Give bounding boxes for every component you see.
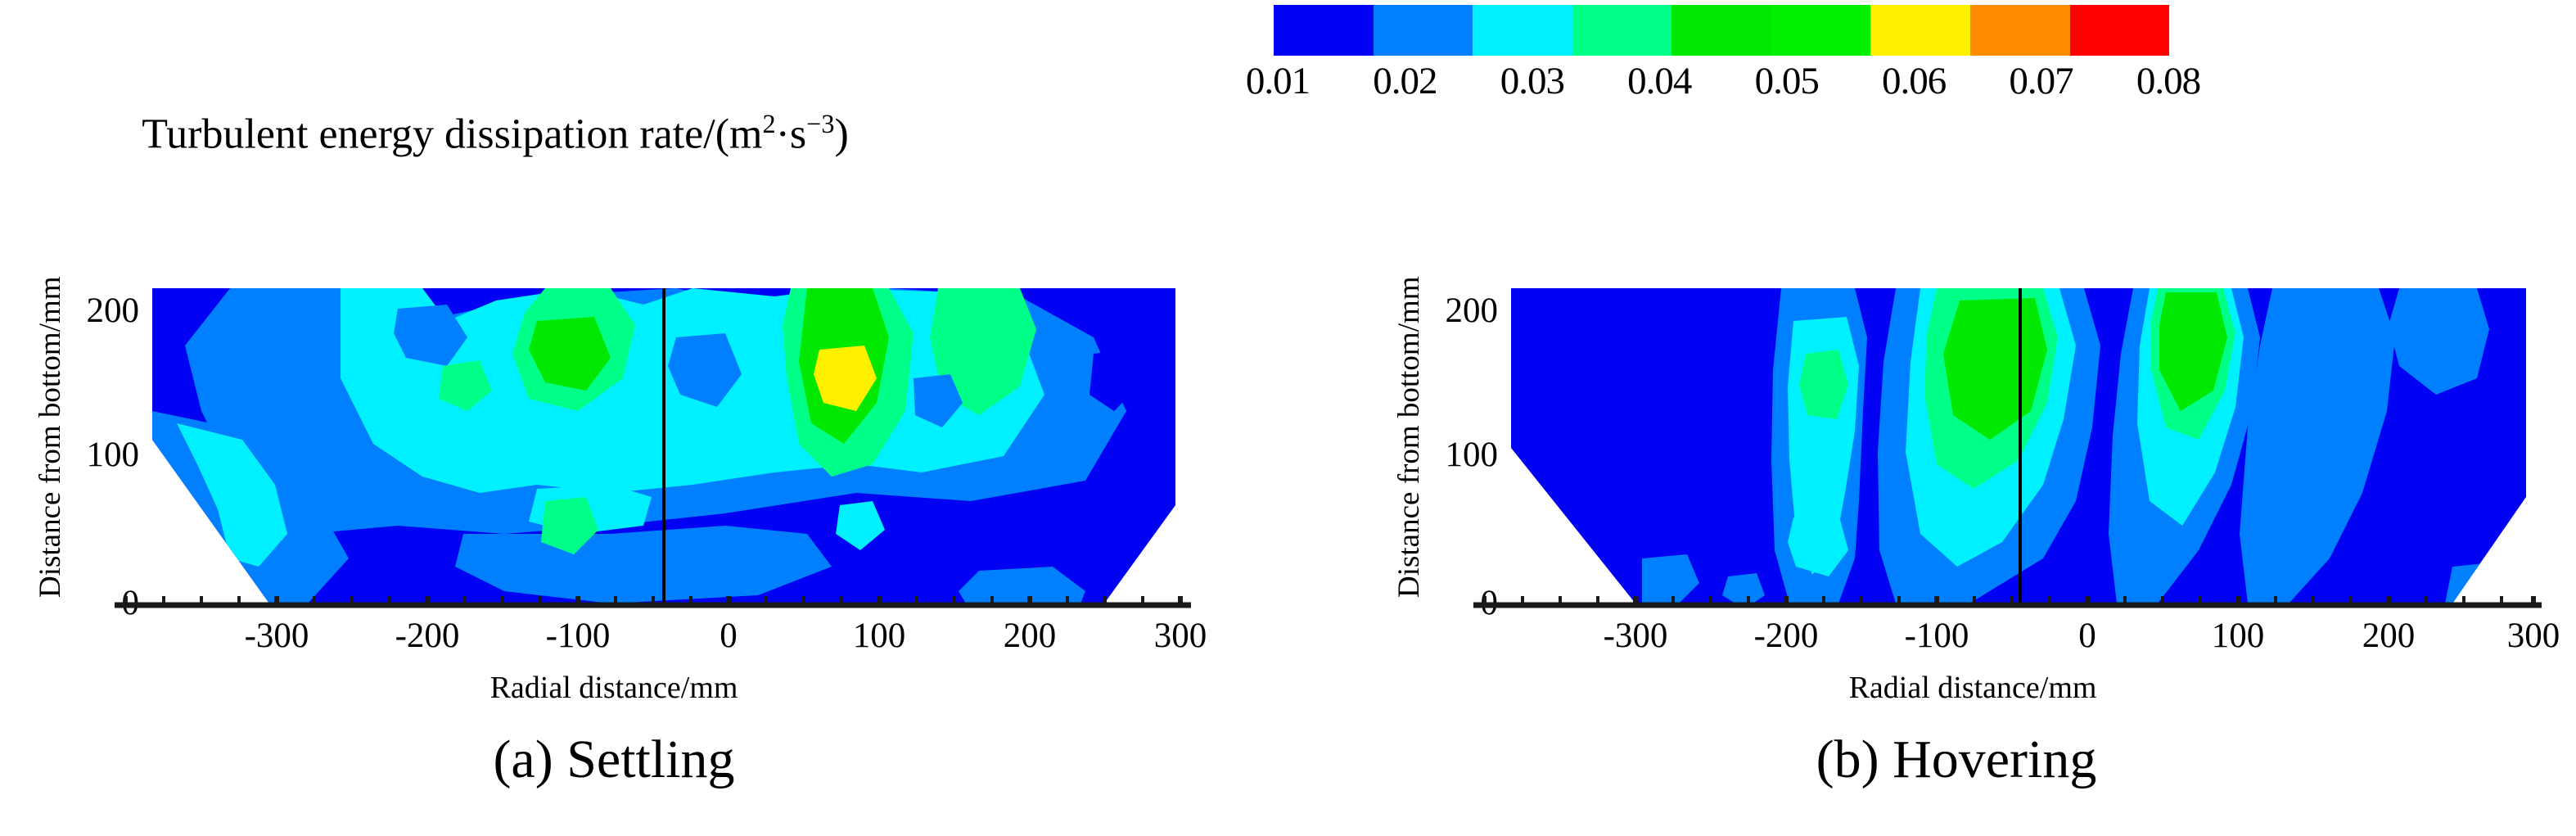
y-tick-100-b: 100 <box>1408 435 1498 475</box>
panel-caption-a: (a) Settling <box>409 729 819 791</box>
contour-plot-hovering <box>1511 288 2526 612</box>
x-axis-label-b: Radial distance/mm <box>1768 670 2177 706</box>
x-tick-200-b: 200 <box>2331 616 2446 656</box>
panel-settling: Distance from bottom/mm 200 100 0 <box>0 0 1228 836</box>
contour-plot-settling <box>152 288 1175 612</box>
x-tick-300-b: 300 <box>2476 616 2576 656</box>
x-tick-0-b: 0 <box>2030 616 2145 656</box>
x-tick-0-a: 0 <box>671 616 786 656</box>
x-tick-100-b: 100 <box>2181 616 2295 656</box>
x-tick-200-a: 200 <box>972 616 1087 656</box>
x-axis-label-a: Radial distance/mm <box>409 670 819 706</box>
x-tick--200-a: -200 <box>370 616 485 656</box>
colorbar-tick-0.01: 0.01 <box>1228 59 1328 103</box>
x-tick--300-b: -300 <box>1578 616 1693 656</box>
panel-hovering: Distance from bottom/mm 200 100 0 <box>1359 0 2570 836</box>
x-tick--100-a: -100 <box>521 616 635 656</box>
x-tick--200-b: -200 <box>1729 616 1843 656</box>
y-tick-100-a: 100 <box>49 435 139 475</box>
x-tick--300-a: -300 <box>219 616 334 656</box>
x-tick--100-b: -100 <box>1879 616 1994 656</box>
x-tick-300-a: 300 <box>1123 616 1238 656</box>
x-axis-b <box>1473 596 2546 617</box>
y-tick-200-b: 200 <box>1408 291 1498 331</box>
panel-caption-b: (b) Hovering <box>1752 729 2161 791</box>
y-tick-200-a: 200 <box>49 291 139 331</box>
x-axis-a <box>115 596 1195 617</box>
x-tick-100-a: 100 <box>822 616 936 656</box>
